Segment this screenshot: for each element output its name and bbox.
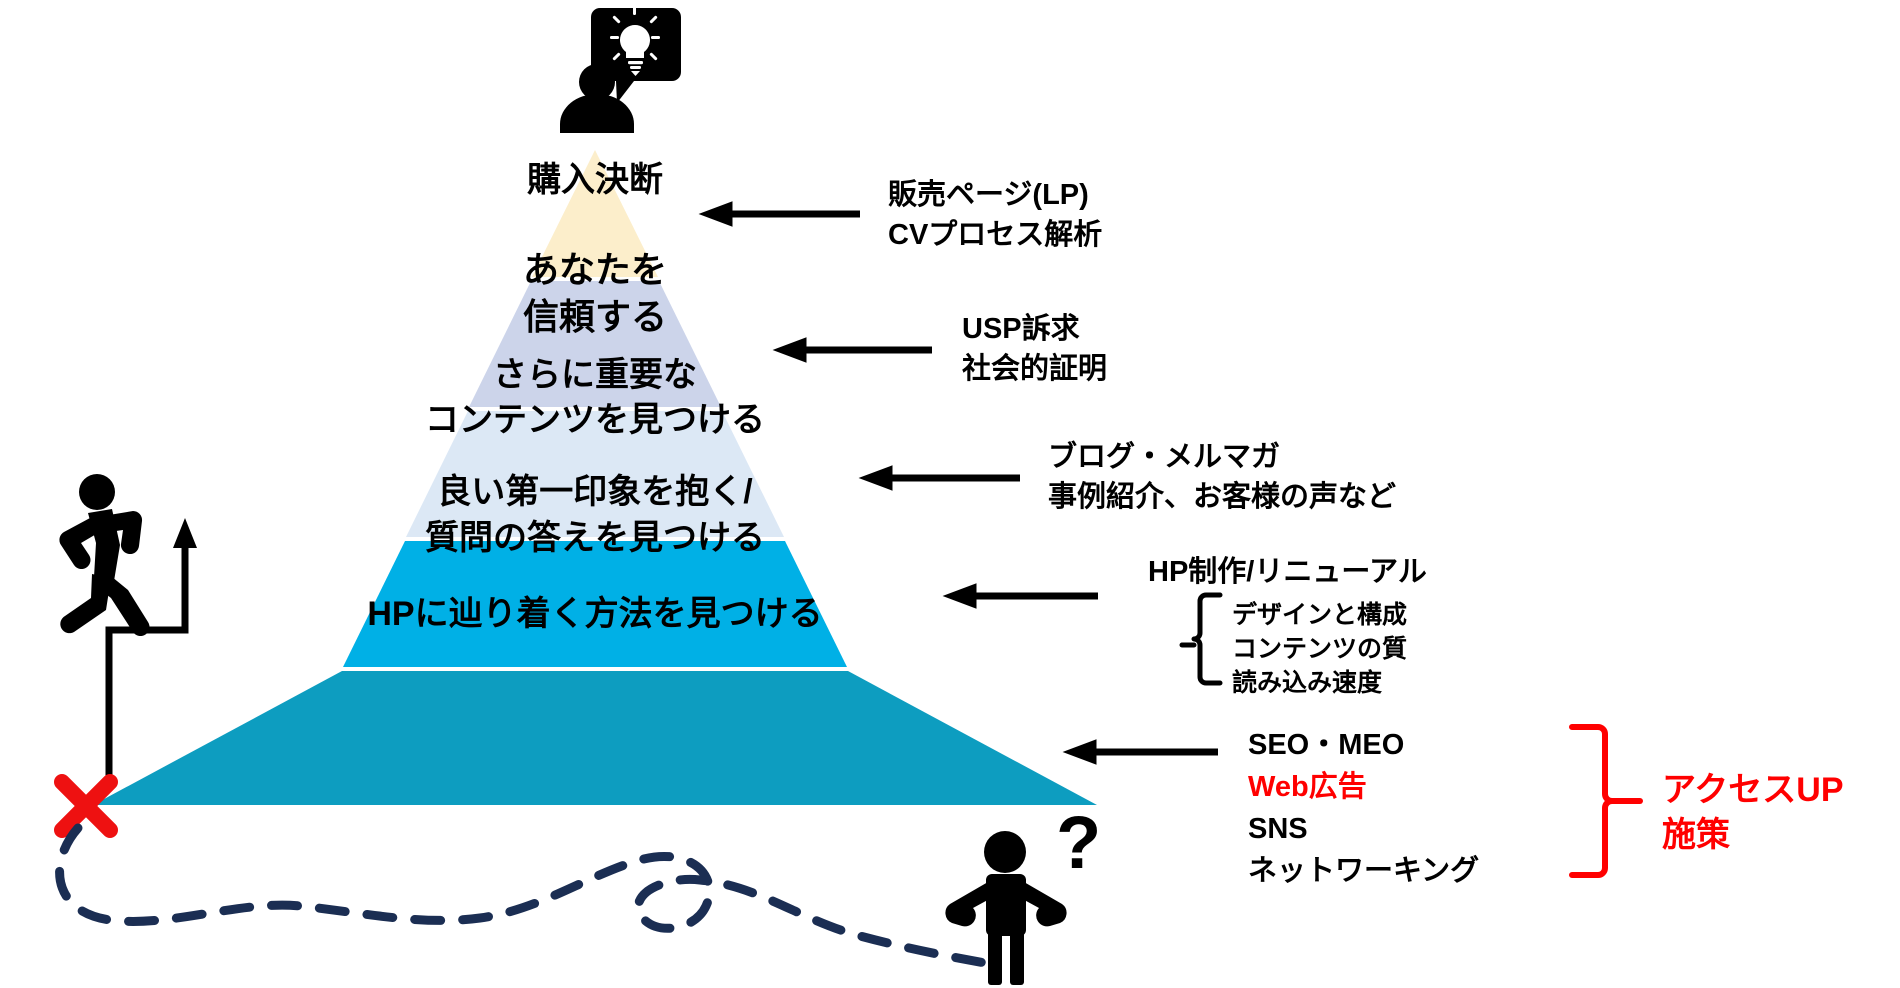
pyramid-level-1-label: 購入決断: [405, 160, 785, 201]
running-person-icon: [59, 474, 149, 636]
step-up-arrow-icon: [109, 518, 197, 780]
annotation-1-line1: 販売ページ(LP): [888, 178, 1089, 213]
annotation-5-item-1: SEO・MEO: [1248, 728, 1404, 763]
annotation-4-subitem-1: デザインと構成: [1232, 600, 1407, 631]
access-up-brace: [1572, 727, 1640, 875]
annotation-2-line2: 社会的証明: [962, 352, 1107, 387]
annotation-2-line1: USP訴求: [962, 312, 1080, 347]
pyramid-level-2-label-line2: 信頼する: [415, 295, 775, 339]
annotation-4-subitem-3: 読み込み速度: [1232, 668, 1382, 699]
annotation-5-item-3: SNS: [1248, 812, 1308, 847]
access-up-callout-line1: アクセスUP: [1662, 770, 1844, 811]
annotation-3-line1: ブログ・メルマガ: [1048, 440, 1280, 475]
pyramid-level-3-label-line1: さらに重要な: [335, 355, 855, 396]
annotation-3-line2: 事例紹介、お客様の声など: [1048, 480, 1396, 515]
pyramid-level-5-label: HPに辿り着く方法を見つける: [265, 594, 925, 635]
hp-sub-items-brace: [1182, 595, 1220, 683]
dashed-wandering-path-icon: [60, 828, 990, 964]
annotation-4-heading: HP制作/リニューアル: [1148, 555, 1427, 590]
access-up-callout-line2: 施策: [1662, 815, 1730, 856]
pyramid-level-4-label-line2: 質問の答えを見つける: [325, 518, 865, 559]
annotation-1-line2: CVプロセス解析: [888, 218, 1102, 253]
diagram-canvas: 購入決断 あなたを 信頼する さらに重要な コンテンツを見つける 良い第一印象を…: [0, 0, 1900, 988]
annotation-5-item-4: ネットワーキング: [1248, 854, 1479, 889]
pyramid-level-4-label-line1: 良い第一印象を抱く/: [325, 472, 865, 513]
pyramid-level-5: [93, 671, 1097, 805]
pyramid-level-2-label-line1: あなたを: [415, 248, 775, 292]
diagram-shapes: [0, 0, 1900, 988]
question-mark-icon: ?: [1056, 800, 1101, 885]
pyramid-level-3-label-line2: コンテンツを見つける: [335, 400, 855, 441]
annotation-5-item-2: Web広告: [1248, 770, 1367, 805]
red-x-mark-icon: [62, 782, 110, 830]
annotation-4-subitem-2: コンテンツの質: [1232, 634, 1407, 665]
person-with-lightbulb-idea-icon: [560, 6, 681, 133]
